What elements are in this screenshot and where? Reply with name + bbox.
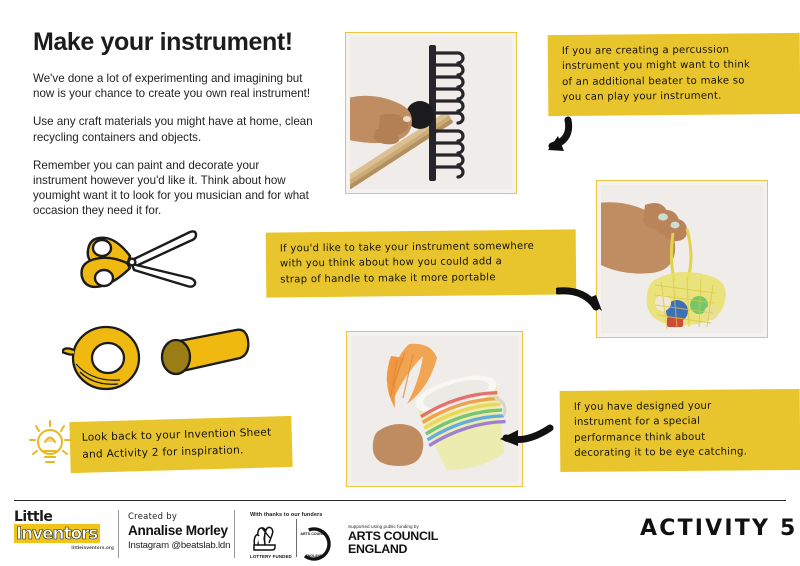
intro-paragraph-3: Remember you can paint and decorate your… <box>33 158 313 219</box>
arrow-down-right-icon <box>556 281 612 326</box>
comb-instrument-illustration <box>350 37 512 189</box>
cardboard-tube-icon <box>152 322 252 391</box>
arts-council-line-2: ENGLAND <box>348 543 458 556</box>
created-by-label: Created by <box>128 511 232 521</box>
intro-section: Make your instrument! We've done a lot o… <box>33 28 323 232</box>
photo-comb-instrument <box>345 32 517 194</box>
bucket-drum-illustration <box>351 336 518 482</box>
page-title: Make your instrument! <box>33 28 323 57</box>
photo-bag-image <box>601 185 763 333</box>
arts-council-text-block: Supported using public funding by ARTS C… <box>348 524 458 556</box>
intro-paragraph-1: We've done a lot of experimenting and im… <box>33 71 313 101</box>
note-percussion-line-4: you can play your instrument. <box>562 88 788 105</box>
funders-inner-divider <box>296 519 297 557</box>
photo-comb-image <box>350 37 512 189</box>
lightbulb-icon <box>28 418 72 477</box>
worksheet-page: Make your instrument! We've done a lot o… <box>0 0 800 566</box>
note-eye-line-4: decorating it to be eye catching. <box>574 444 788 461</box>
arts-council-roundel-icon: ARTS COUNCIL ENGLAND <box>294 524 334 566</box>
svg-text:ENGLAND: ENGLAND <box>306 554 323 558</box>
photo-mesh-bag-shaker <box>596 180 768 338</box>
lottery-funded-label: LOTTERY FUNDED <box>250 554 292 559</box>
scissors-icon <box>80 222 200 305</box>
crossed-fingers-icon <box>250 524 284 552</box>
logo-line-inventors: Inventors <box>14 524 100 543</box>
footer-divider <box>14 500 786 501</box>
note-strap-handle: If you'd like to take your instrument so… <box>266 229 577 297</box>
funders-block: With thanks to our funders LOTTERY FUNDE… <box>250 512 400 518</box>
funders-thanks-label: With thanks to our funders <box>250 512 400 518</box>
creator-instagram-handle: Instagram @beatslab.ldn <box>128 540 232 551</box>
photo-bucket-image <box>351 336 518 482</box>
note-eye-line-1: If you have designed your <box>574 398 788 415</box>
activity-number-label: ACTIVITY 5 <box>640 516 797 541</box>
footer-divider-1 <box>118 510 119 558</box>
note-strap-line-3: strap of handle to make it more portable <box>280 269 564 287</box>
note-eye-line-2: instrument for a special <box>574 413 788 430</box>
lottery-funded-logo: LOTTERY FUNDED <box>250 524 294 557</box>
creator-name: Annalise Morley <box>128 523 232 538</box>
mesh-bag-illustration <box>601 185 763 333</box>
note-look-back: Look back to your Invention Sheet and Ac… <box>69 416 292 473</box>
footer-divider-2 <box>234 510 235 558</box>
created-by-block: Created by Annalise Morley Instagram @be… <box>128 511 232 551</box>
logo-url: littleinventors.org <box>14 545 114 550</box>
svg-text:ARTS COUNCIL: ARTS COUNCIL <box>300 532 328 536</box>
arrow-down-left-icon <box>518 116 576 163</box>
note-eye-line-3: performance think about <box>574 429 788 446</box>
little-inventors-logo[interactable]: Little Inventors littleinventors.org <box>14 509 114 550</box>
arrow-left-icon <box>492 418 556 459</box>
note-eye-catching: If you have designed your instrument for… <box>560 389 800 472</box>
note-percussion: If you are creating a percussion instrum… <box>548 33 800 116</box>
photo-bucket-drum <box>346 331 523 487</box>
logo-line-little: Little <box>14 509 114 525</box>
tape-roll-icon <box>62 320 148 397</box>
intro-paragraph-2: Use any craft materials you might have a… <box>33 114 313 144</box>
